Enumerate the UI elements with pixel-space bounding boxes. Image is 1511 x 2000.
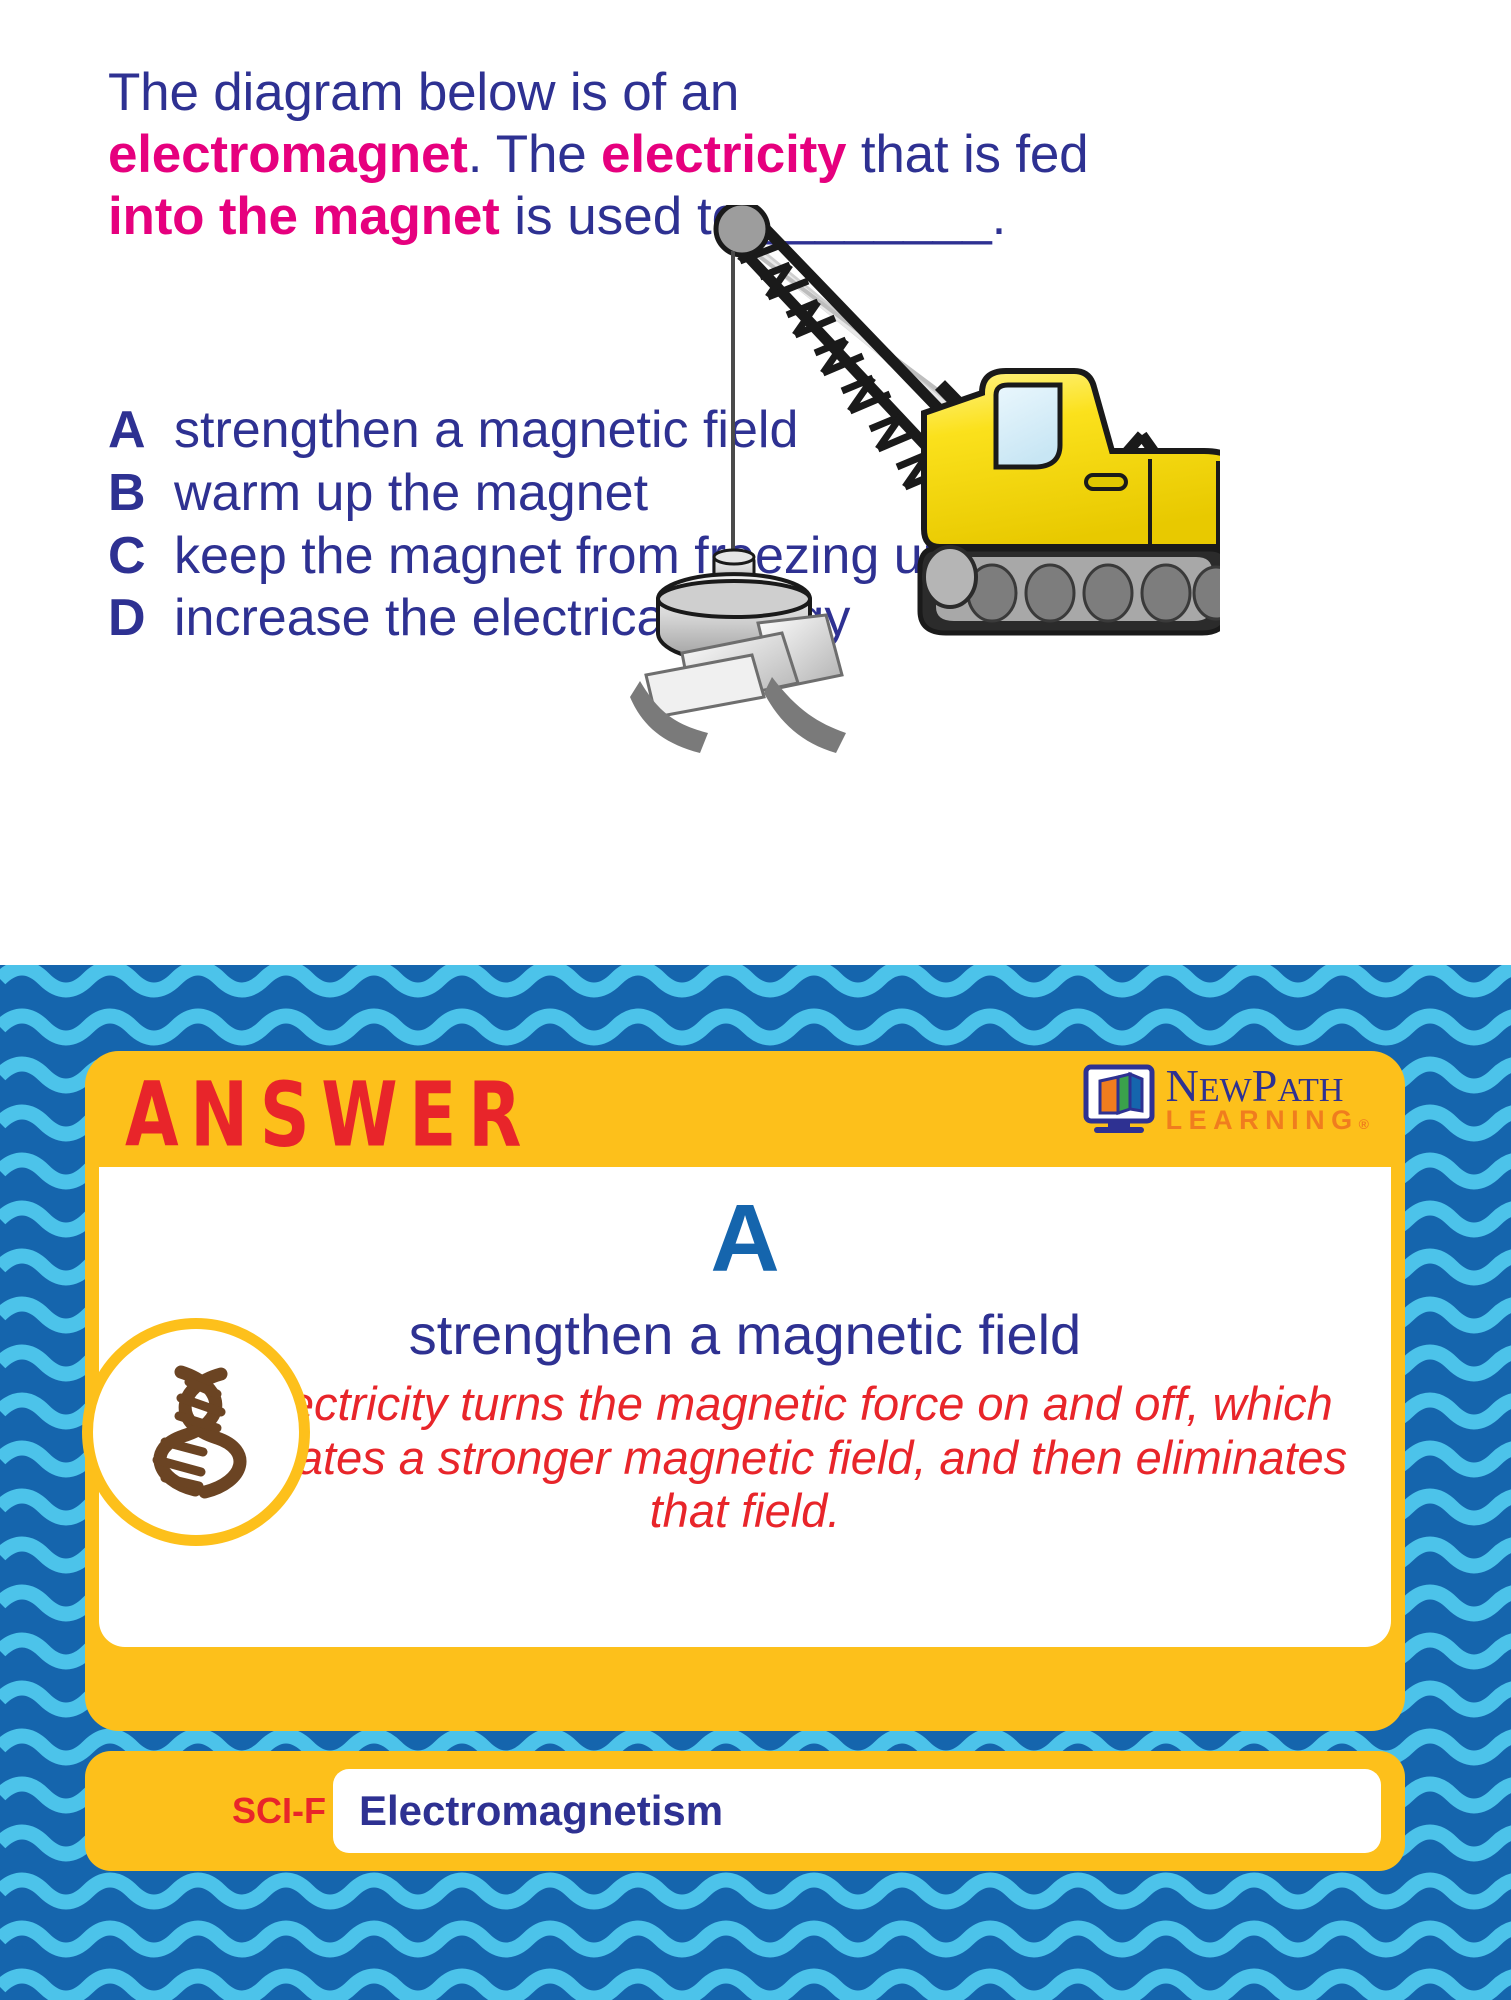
newpath-learning-logo[interactable]: NEWPATH LEARNING® [1082, 1063, 1369, 1141]
subject-name-label: Electromagnetism [359, 1787, 723, 1835]
answer-header-label: ANSWER [125, 1063, 533, 1167]
choice-letter-b: B [108, 463, 174, 524]
answer-card-header: ANSWER NEWPATH LEARNING® [85, 1051, 1405, 1166]
open-book-on-monitor-icon [1082, 1063, 1156, 1137]
stem-segment-1: The diagram below is of an [108, 63, 739, 122]
question-panel: The diagram below is of an electromagnet… [0, 0, 1511, 965]
dna-helix-icon [121, 1352, 271, 1512]
answer-explanation: The electricity turns the magnetic force… [133, 1377, 1357, 1538]
logo-tagline: LEARNING® [1166, 1107, 1369, 1134]
flashcard-page: The diagram below is of an electromagnet… [0, 0, 1511, 2000]
correct-answer-text: strengthen a magnetic field [99, 1307, 1391, 1363]
crane-vehicle [920, 371, 1220, 633]
stem-bold-into-the-magnet: into the magnet [108, 187, 500, 246]
electromagnet-crane-illustration [630, 205, 1220, 785]
stem-bold-electromagnet: electromagnet [108, 125, 468, 184]
choice-letter-c: C [108, 526, 174, 587]
logo-brand-name: NEWPATH [1166, 1063, 1369, 1109]
stem-segment-3: that is fed [846, 125, 1088, 184]
logo-wordmark: NEWPATH LEARNING® [1166, 1063, 1369, 1134]
boom-tip-pulley-icon [716, 205, 768, 255]
choice-letter-a: A [108, 400, 174, 461]
stem-bold-electricity: electricity [601, 125, 846, 184]
subject-code-label: SCI-F [225, 1769, 333, 1853]
subject-badge [82, 1318, 310, 1546]
correct-answer-letter: A [99, 1191, 1391, 1287]
logo-brand-path-small: ATH [1277, 1072, 1343, 1109]
logo-brand-new-small: EW [1199, 1072, 1252, 1109]
choice-letter-d: D [108, 588, 174, 649]
logo-tagline-text: LEARNING [1166, 1105, 1359, 1135]
logo-registered-mark: ® [1359, 1116, 1369, 1132]
stem-segment-2: . The [468, 125, 601, 184]
subject-name-field: Electromagnetism [333, 1769, 1381, 1853]
